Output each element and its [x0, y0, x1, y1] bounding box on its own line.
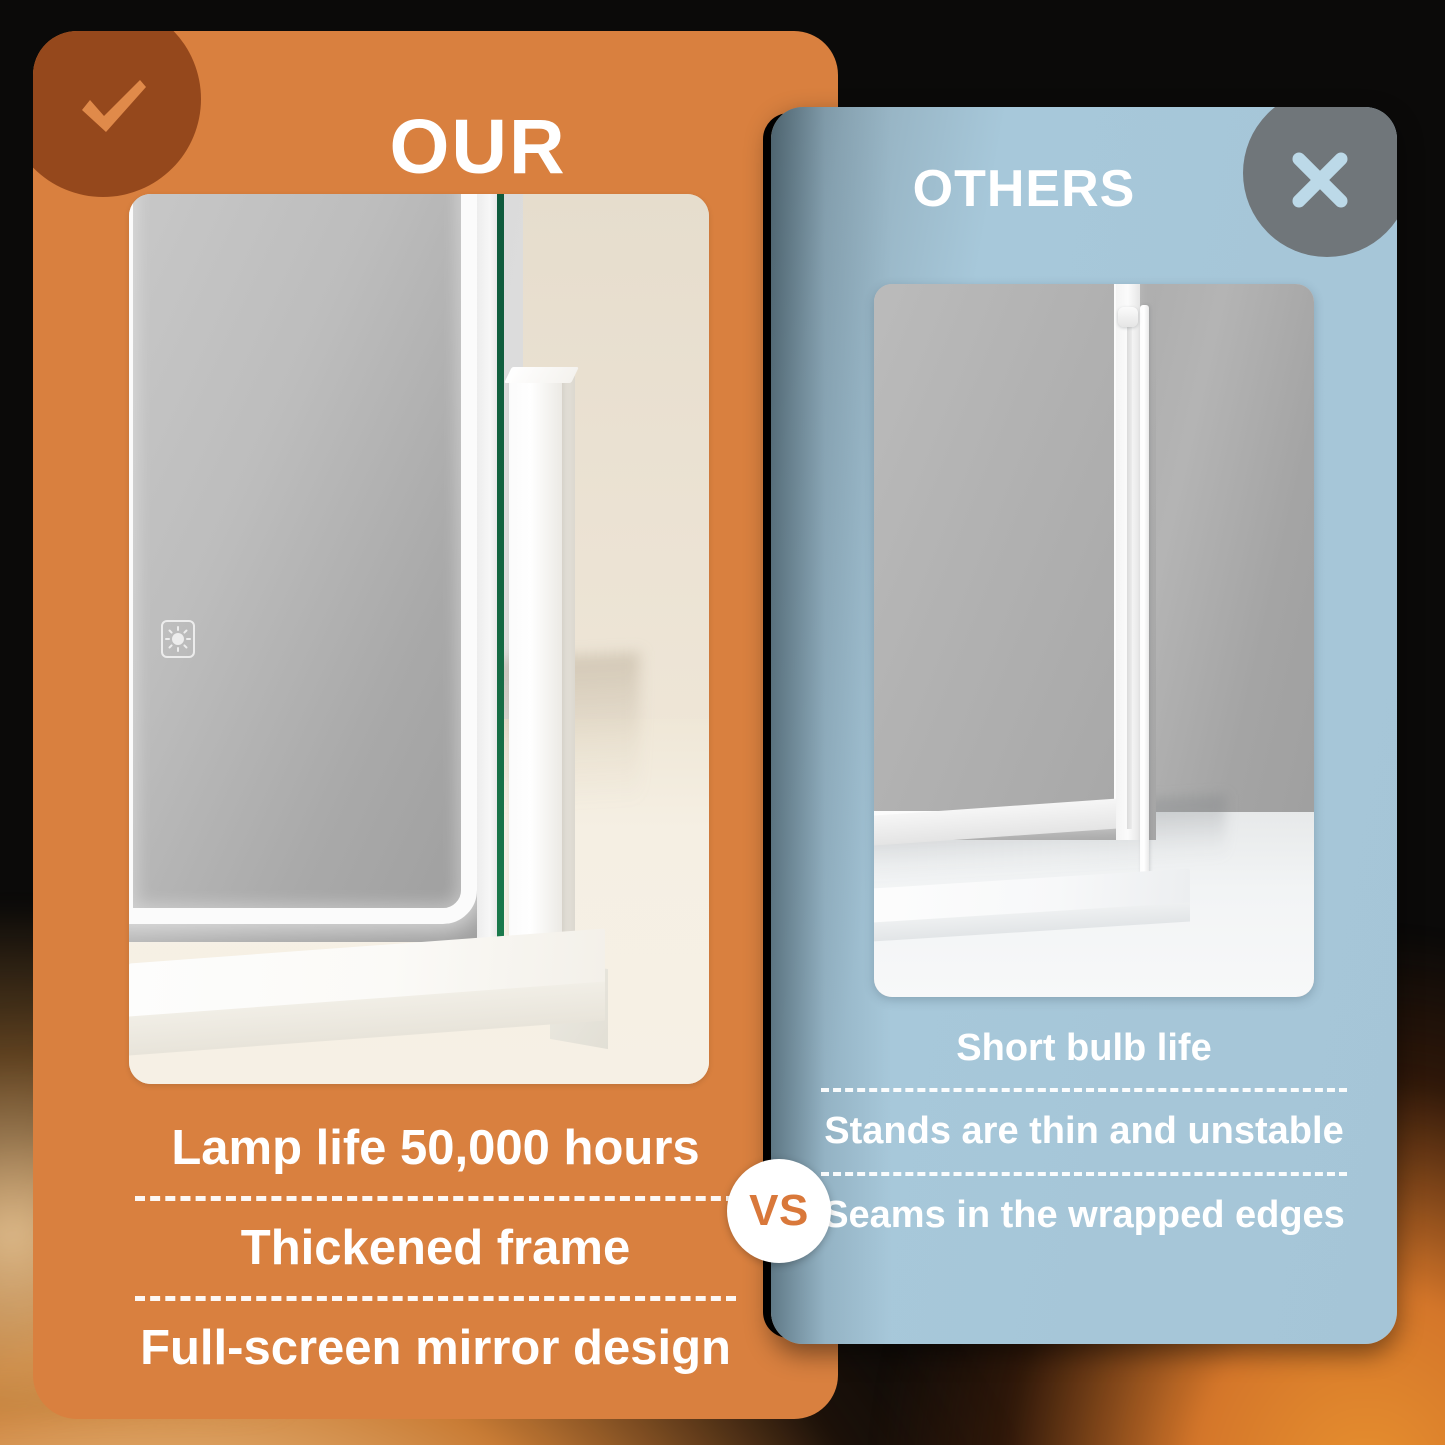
- photo1-stand-post-top: [504, 367, 578, 383]
- others-product-photo: [874, 284, 1314, 997]
- others-title: OTHERS: [771, 159, 1397, 219]
- our-feature-list: Lamp life 50,000 hours Thickened frame F…: [73, 1121, 798, 1376]
- our-panel: OUR: [33, 31, 838, 1419]
- photo2-led-border: [874, 284, 1129, 826]
- photo1-stand-post: [509, 376, 562, 1008]
- others-divider-2: [821, 1172, 1347, 1176]
- photo1-glass-edge: [497, 194, 504, 951]
- photo1-led-border: [129, 194, 477, 924]
- our-divider-2: [135, 1296, 736, 1301]
- others-panel: OTHERS Short bulb life Stands are thin a…: [771, 107, 1397, 1344]
- comparison-infographic: OUR: [0, 0, 1445, 1445]
- vs-badge: VS: [727, 1159, 831, 1263]
- photo2-thin-stand-rod: [1140, 305, 1148, 904]
- our-title: OUR: [33, 103, 838, 192]
- others-feature-1: Short bulb life: [787, 1027, 1381, 1070]
- others-feature-3: Seams in the wrapped edges: [787, 1194, 1381, 1237]
- others-divider-1: [821, 1088, 1347, 1092]
- photo1-stand-post-side: [561, 376, 575, 1001]
- our-divider-1: [135, 1196, 736, 1201]
- our-feature-1: Lamp life 50,000 hours: [73, 1121, 798, 1176]
- others-feature-2: Stands are thin and unstable: [787, 1110, 1381, 1153]
- our-product-photo: [129, 194, 709, 1084]
- our-feature-2: Thickened frame: [73, 1221, 798, 1276]
- photo2-rod-back: [1127, 316, 1132, 829]
- brightness-touch-icon: [159, 619, 199, 659]
- photo2-pivot-knob: [1118, 307, 1138, 328]
- our-feature-3: Full-screen mirror design: [73, 1321, 798, 1376]
- others-feature-list: Short bulb life Stands are thin and unst…: [787, 1027, 1381, 1237]
